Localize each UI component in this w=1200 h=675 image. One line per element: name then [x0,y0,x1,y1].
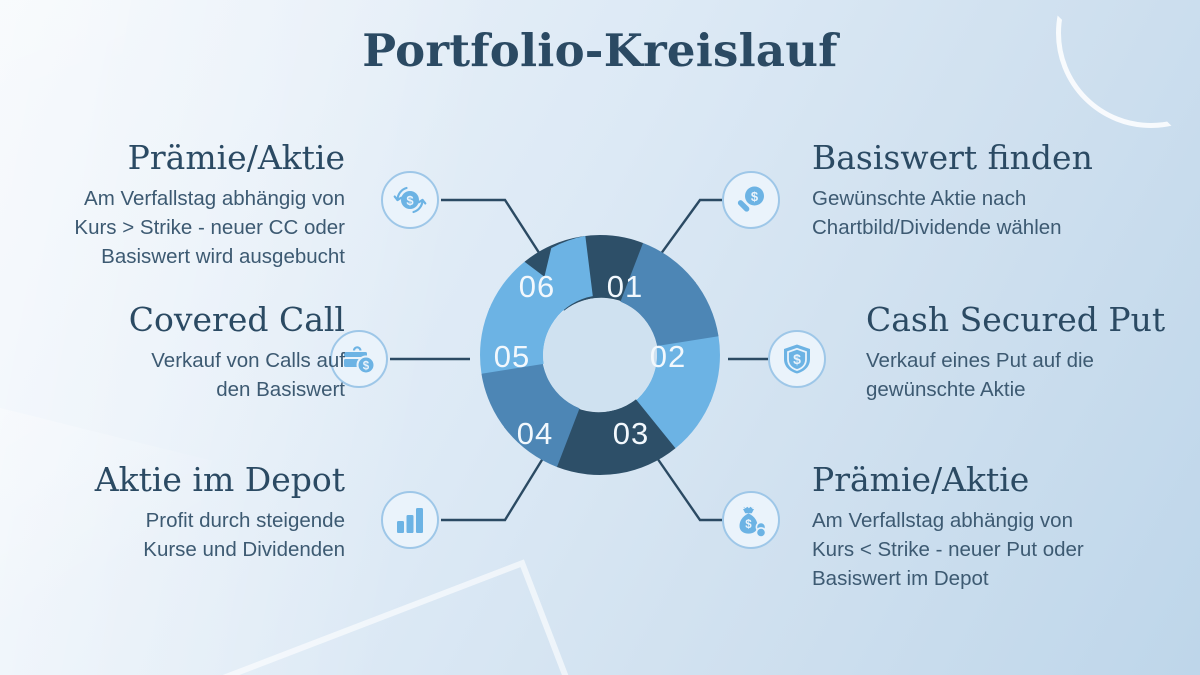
connector-04 [441,455,545,520]
desc-line-3: Basiswert im Depot [812,564,1190,593]
wheel-number-02: 02 [650,339,686,374]
wheel-number-04: 04 [517,416,553,451]
shield-dollar-icon[interactable]: $ [768,330,826,388]
step-block-premium-stock-right: Prämie/Aktie Am Verfallstag abhängig von… [812,462,1190,593]
step-description: Verkauf eines Put auf die gewünschte Akt… [866,346,1190,404]
desc-line-1: Am Verfallstag abhängig von [812,506,1190,535]
connector-06 [441,200,545,262]
money-bag-icon[interactable]: $ [722,491,780,549]
wheel-number-01: 01 [607,269,643,304]
desc-line-2: Kurs < Strike - neuer Put oder [812,535,1190,564]
step-block-cash-secured-put: Cash Secured Put Verkauf eines Put auf d… [866,302,1190,404]
step-heading: Aktie im Depot [25,462,345,499]
desc-line-1: Verkauf eines Put auf die [866,346,1190,375]
desc-line-1: Profit durch steigende [25,506,345,535]
step-heading: Basiswert finden [812,140,1190,177]
step-description: Am Verfallstag abhängig von Kurs > Strik… [10,184,345,271]
step-description: Verkauf von Calls auf den Basiswert [25,346,345,404]
step-heading: Covered Call [25,302,345,339]
svg-text:$: $ [751,189,759,204]
step-heading: Prämie/Aktie [812,462,1190,499]
step-heading: Prämie/Aktie [10,140,345,177]
wheel-hub [543,298,657,412]
wheel-number-06: 06 [519,269,555,304]
step-block-premium-stock-left: Prämie/Aktie Am Verfallstag abhängig von… [10,140,345,271]
svg-text:$: $ [745,519,752,531]
desc-line-3: Basiswert wird ausgebucht [10,242,345,271]
wheel-number-03: 03 [613,416,649,451]
step-heading: Cash Secured Put [866,302,1190,339]
wheel-number-05: 05 [494,339,530,374]
step-block-find-underlying: Basiswert finden Gewünschte Aktie nach C… [812,140,1190,242]
coin-refresh-icon[interactable]: $ [381,171,439,229]
desc-line-1: Verkauf von Calls auf [25,346,345,375]
donut-wheel: 01 02 03 04 05 06 [445,194,755,515]
svg-text:$: $ [406,193,414,208]
connector-03 [655,455,722,520]
bar-chart-icon[interactable] [381,491,439,549]
svg-text:$: $ [793,351,801,367]
step-description: Profit durch steigende Kurse und Dividen… [25,506,345,564]
step-description: Gewünschte Aktie nach Chartbild/Dividend… [812,184,1190,242]
step-description: Am Verfallstag abhängig von Kurs < Strik… [812,506,1190,593]
desc-line-2: den Basiswert [25,375,345,404]
desc-line-1: Am Verfallstag abhängig von [10,184,345,213]
desc-line-2: Kurse und Dividenden [25,535,345,564]
desc-line-2: Kurs > Strike - neuer CC oder [10,213,345,242]
step-block-stock-in-depot: Aktie im Depot Profit durch steigende Ku… [25,462,345,564]
magnifier-dollar-icon[interactable]: $ [722,171,780,229]
desc-line-2: gewünschte Aktie [866,375,1190,404]
step-block-covered-call: Covered Call Verkauf von Calls auf den B… [25,302,345,404]
desc-line-1: Gewünschte Aktie nach [812,184,1190,213]
svg-text:$: $ [363,361,370,373]
connector-01 [655,200,722,262]
desc-line-2: Chartbild/Dividende wählen [812,213,1190,242]
